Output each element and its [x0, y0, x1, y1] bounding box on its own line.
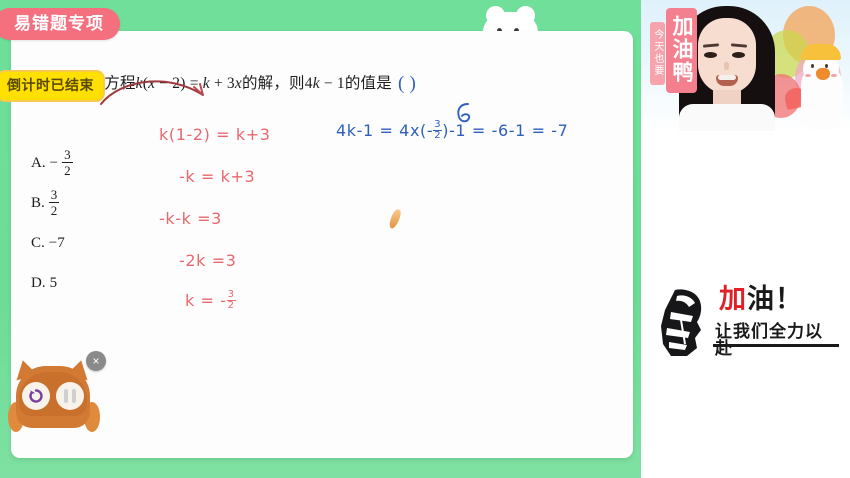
timer-status-badge: 倒计时已结束	[0, 70, 105, 102]
motivation-headline-a: 加	[719, 284, 747, 314]
question-eq6: − 1的值是	[320, 75, 392, 92]
answer-options: A. − 3 2 B. 3 2 C. −7	[31, 143, 73, 303]
red-step-2-post: 3	[245, 167, 256, 186]
motivation-banner: 加油！ 让我们全力以赴	[657, 282, 839, 364]
red-step-4-pre: -2k =	[179, 251, 226, 270]
option-c-value: −7	[49, 235, 65, 252]
pause-icon[interactable]	[56, 382, 84, 410]
question-var-x3: x	[235, 75, 242, 92]
video-title-block: 加油鸭 今天也要	[645, 8, 697, 120]
answer-blank[interactable]: ( )	[398, 73, 416, 95]
blue-work-fraction: 32	[433, 120, 442, 141]
option-a-label: A.	[31, 155, 46, 172]
video-title-main: 加油鸭	[666, 8, 697, 93]
lesson-stage: 易错题专项 已知x = 1是方程k(x − 2) = k + 3x的解，则4k …	[0, 0, 641, 478]
motivation-underline	[713, 344, 839, 347]
question-var-k3: k	[313, 75, 320, 92]
red-step-5-numerator: 3	[227, 290, 236, 300]
video-title-sub: 今天也要	[650, 22, 665, 85]
option-b-fraction: 3 2	[49, 188, 60, 217]
option-a-numerator: 3	[62, 148, 73, 162]
red-step-3-pre: -k-k =	[159, 209, 211, 228]
option-d-value: 5	[50, 275, 58, 292]
red-work-step-4: -2k =3	[179, 251, 237, 270]
red-step-3-post: 3	[211, 209, 222, 228]
question-eq5: 的解，则4	[242, 75, 313, 92]
motivation-headline-b: 油	[747, 284, 775, 314]
blue-work-line: 4k-1 = 4x(-32)-1 = -6-1 = -7	[336, 121, 568, 142]
option-c-label: C.	[31, 235, 45, 252]
duck-mascot-icon	[793, 38, 845, 130]
option-a-fraction: 3 2	[62, 148, 73, 177]
red-curved-arrow-icon	[99, 71, 231, 111]
option-c[interactable]: C. −7	[31, 223, 73, 263]
fist-illustration-icon	[657, 286, 713, 360]
red-step-1-pre: k(1-2) = k+	[159, 125, 260, 144]
motivation-headline: 加油！	[719, 286, 803, 313]
option-d-label: D.	[31, 275, 46, 292]
red-step-2-pre: -k = k+	[179, 167, 245, 186]
option-b-numerator: 3	[49, 188, 60, 202]
red-step-5-denominator: 2	[227, 300, 236, 311]
motivation-subline: 让我们全力以赴	[715, 323, 839, 357]
blue-work-part2: )-1 = -6-1 = -7	[442, 121, 568, 140]
red-step-5-fraction: 32	[227, 290, 236, 311]
red-work-step-5: k = -32	[185, 291, 236, 312]
owl-timer-icon[interactable]	[6, 358, 110, 458]
option-a-denominator: 2	[62, 162, 73, 177]
option-d[interactable]: D. 5	[31, 263, 73, 303]
topic-badge: 易错题专项	[0, 8, 120, 40]
blue-work-denominator: 2	[433, 130, 442, 141]
blue-work-part1: 4k-1 = 4x(-	[336, 121, 433, 140]
teacher-video[interactable]: 加油鸭 今天也要	[641, 0, 850, 131]
option-b[interactable]: B. 3 2	[31, 183, 73, 223]
right-panel: 加油鸭 今天也要 加油！ 让我们全力以赴	[641, 0, 850, 478]
option-b-denominator: 2	[49, 202, 60, 217]
red-step-5-pre: k = -	[185, 291, 227, 310]
close-icon[interactable]: ×	[86, 351, 106, 371]
screen-root: 易错题专项 已知x = 1是方程k(x − 2) = k + 3x的解，则4k …	[0, 0, 850, 478]
blue-work-numerator: 3	[433, 120, 442, 130]
option-a-sign: −	[50, 155, 58, 172]
motivation-headline-bang: ！	[775, 284, 803, 314]
red-step-4-post: 3	[226, 251, 237, 270]
orange-pen-stroke-icon	[388, 208, 403, 230]
option-a[interactable]: A. − 3 2	[31, 143, 73, 183]
red-step-1-post: 3	[260, 125, 271, 144]
red-work-step-2: -k = k+3	[179, 167, 255, 186]
red-work-step-3: -k-k =3	[159, 209, 222, 228]
restart-icon[interactable]	[22, 382, 50, 410]
red-work-step-1: k(1-2) = k+3	[159, 125, 271, 144]
option-b-label: B.	[31, 195, 45, 212]
